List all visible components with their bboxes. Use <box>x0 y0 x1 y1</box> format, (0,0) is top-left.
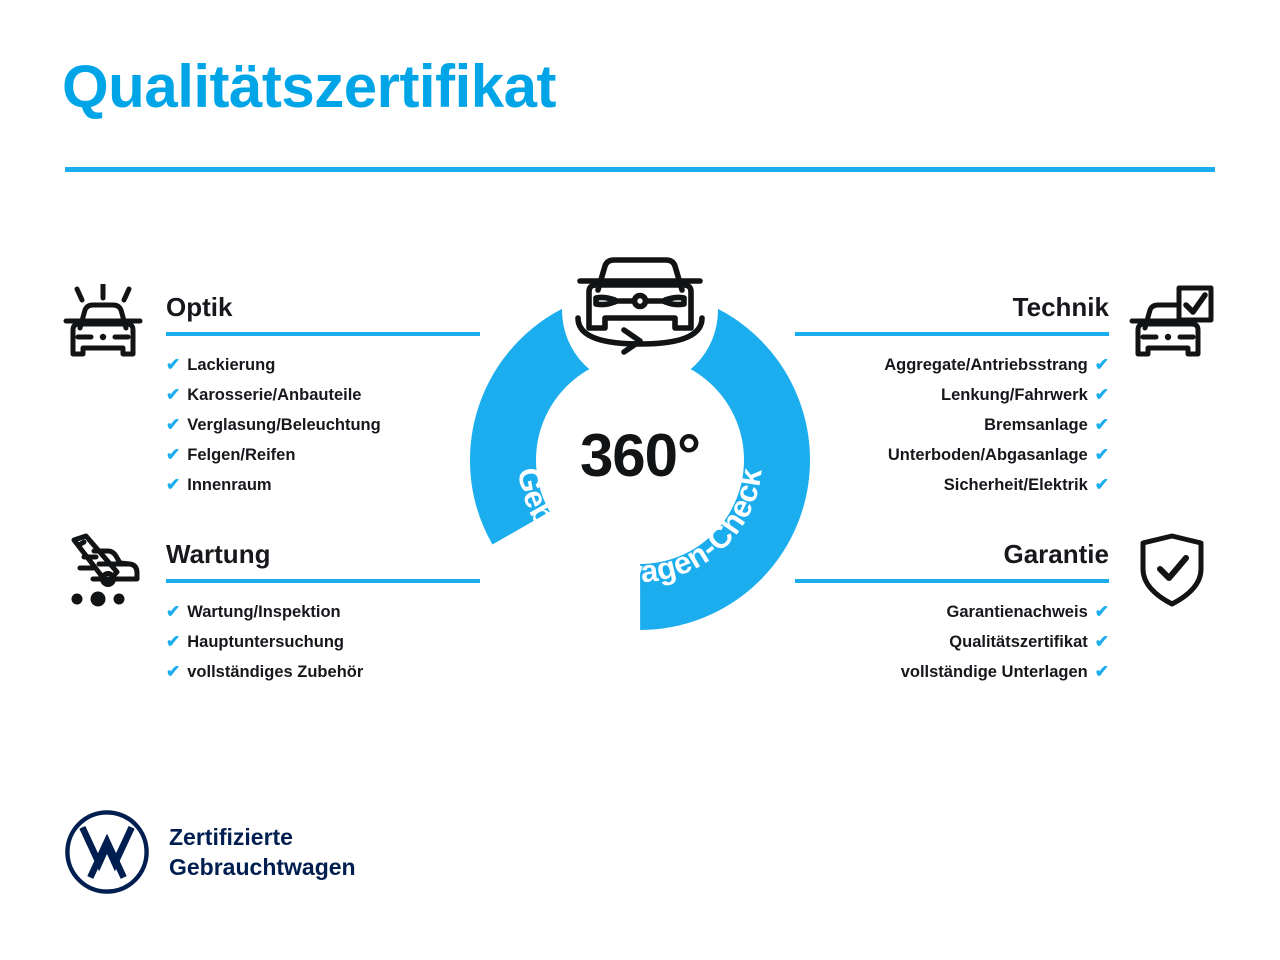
check-icon: ✔ <box>166 657 180 687</box>
section-optik-divider <box>166 332 480 336</box>
shield-check-icon <box>1129 531 1215 609</box>
section-technik: Technik Aggregate/Antriebsstrang✔ Lenkun… <box>795 290 1215 500</box>
section-wartung-divider <box>166 579 480 583</box>
section-garantie-divider <box>795 579 1109 583</box>
list-item: Unterboden/Abgasanlage✔ <box>795 440 1109 470</box>
list-item: Bremsanlage✔ <box>795 410 1109 440</box>
check-icon: ✔ <box>166 597 180 627</box>
check-icon: ✔ <box>166 627 180 657</box>
section-technik-divider <box>795 332 1109 336</box>
list-item: ✔Wartung/Inspektion <box>166 597 480 627</box>
list-item-label: Felgen/Reifen <box>187 446 295 464</box>
list-item: ✔Hauptuntersuchung <box>166 627 480 657</box>
check-icon: ✔ <box>166 470 180 500</box>
list-item-label: Karosserie/Anbauteile <box>187 386 361 404</box>
check-icon: ✔ <box>166 350 180 380</box>
list-item-label: Verglasung/Beleuchtung <box>187 416 380 434</box>
list-item-label: Sicherheit/Elektrik <box>944 476 1088 494</box>
list-item-label: Innenraum <box>187 476 271 494</box>
list-item-label: Unterboden/Abgasanlage <box>888 446 1088 464</box>
list-item-label: vollständiges Zubehör <box>187 663 363 681</box>
section-wartung-header: Wartung <box>60 537 480 583</box>
footer-brand-text: Zertifizierte Gebrauchtwagen <box>169 822 356 883</box>
list-item: Sicherheit/Elektrik✔ <box>795 470 1109 500</box>
section-optik-header: Optik <box>60 290 480 336</box>
check-icon: ✔ <box>1095 350 1109 380</box>
section-technik-header: Technik <box>795 290 1215 336</box>
list-item: ✔vollständiges Zubehör <box>166 657 480 687</box>
list-item: Garantienachweis✔ <box>795 597 1109 627</box>
footer-brand: Zertifizierte Gebrauchtwagen <box>63 808 356 896</box>
list-item-label: Lenkung/Fahrwerk <box>941 386 1088 404</box>
car-front-rotation-icon <box>562 248 718 360</box>
section-optik: Optik ✔Lackierung ✔Karosserie/Anbauteile… <box>60 290 480 500</box>
list-item: Aggregate/Antriebsstrang✔ <box>795 350 1109 380</box>
list-item: ✔Verglasung/Beleuchtung <box>166 410 480 440</box>
page-title: Qualitätszertifikat <box>62 55 556 118</box>
list-item: ✔Felgen/Reifen <box>166 440 480 470</box>
check-icon: ✔ <box>1095 657 1109 687</box>
car-front-checkbox-icon <box>1129 284 1215 362</box>
list-item: Lenkung/Fahrwerk✔ <box>795 380 1109 410</box>
list-item-label: Hauptuntersuchung <box>187 633 344 651</box>
list-item: vollständige Unterlagen✔ <box>795 657 1109 687</box>
service-pencil-car-icon <box>60 531 146 609</box>
list-item-label: Lackierung <box>187 356 275 374</box>
list-item: ✔Karosserie/Anbauteile <box>166 380 480 410</box>
list-item-label: Garantienachweis <box>947 603 1088 621</box>
list-item-label: Bremsanlage <box>984 416 1088 434</box>
list-item-label: Wartung/Inspektion <box>187 603 340 621</box>
check-icon: ✔ <box>1095 597 1109 627</box>
list-item: ✔Lackierung <box>166 350 480 380</box>
list-item-label: vollständige Unterlagen <box>901 663 1088 681</box>
check-icon: ✔ <box>1095 440 1109 470</box>
check-icon: ✔ <box>1095 627 1109 657</box>
check-icon: ✔ <box>1095 470 1109 500</box>
check-icon: ✔ <box>1095 410 1109 440</box>
check-icon: ✔ <box>166 440 180 470</box>
section-garantie: Garantie Garantienachweis✔ Qualitätszert… <box>795 537 1215 687</box>
title-divider <box>65 167 1215 172</box>
list-item-label: Aggregate/Antriebsstrang <box>884 356 1088 374</box>
section-garantie-header: Garantie <box>795 537 1215 583</box>
section-wartung: Wartung ✔Wartung/Inspektion ✔Hauptunters… <box>60 537 480 687</box>
check-icon: ✔ <box>166 410 180 440</box>
check-icon: ✔ <box>1095 380 1109 410</box>
list-item-label: Qualitätszertifikat <box>949 633 1087 651</box>
gebrauchtwagen-check-badge: Gebrauchtwagen-Check 360° <box>460 248 820 648</box>
car-front-shine-icon <box>60 284 146 362</box>
volkswagen-logo <box>63 808 151 896</box>
check-icon: ✔ <box>166 380 180 410</box>
badge-number: 360° <box>460 426 820 486</box>
list-item: ✔Innenraum <box>166 470 480 500</box>
list-item: Qualitätszertifikat✔ <box>795 627 1109 657</box>
